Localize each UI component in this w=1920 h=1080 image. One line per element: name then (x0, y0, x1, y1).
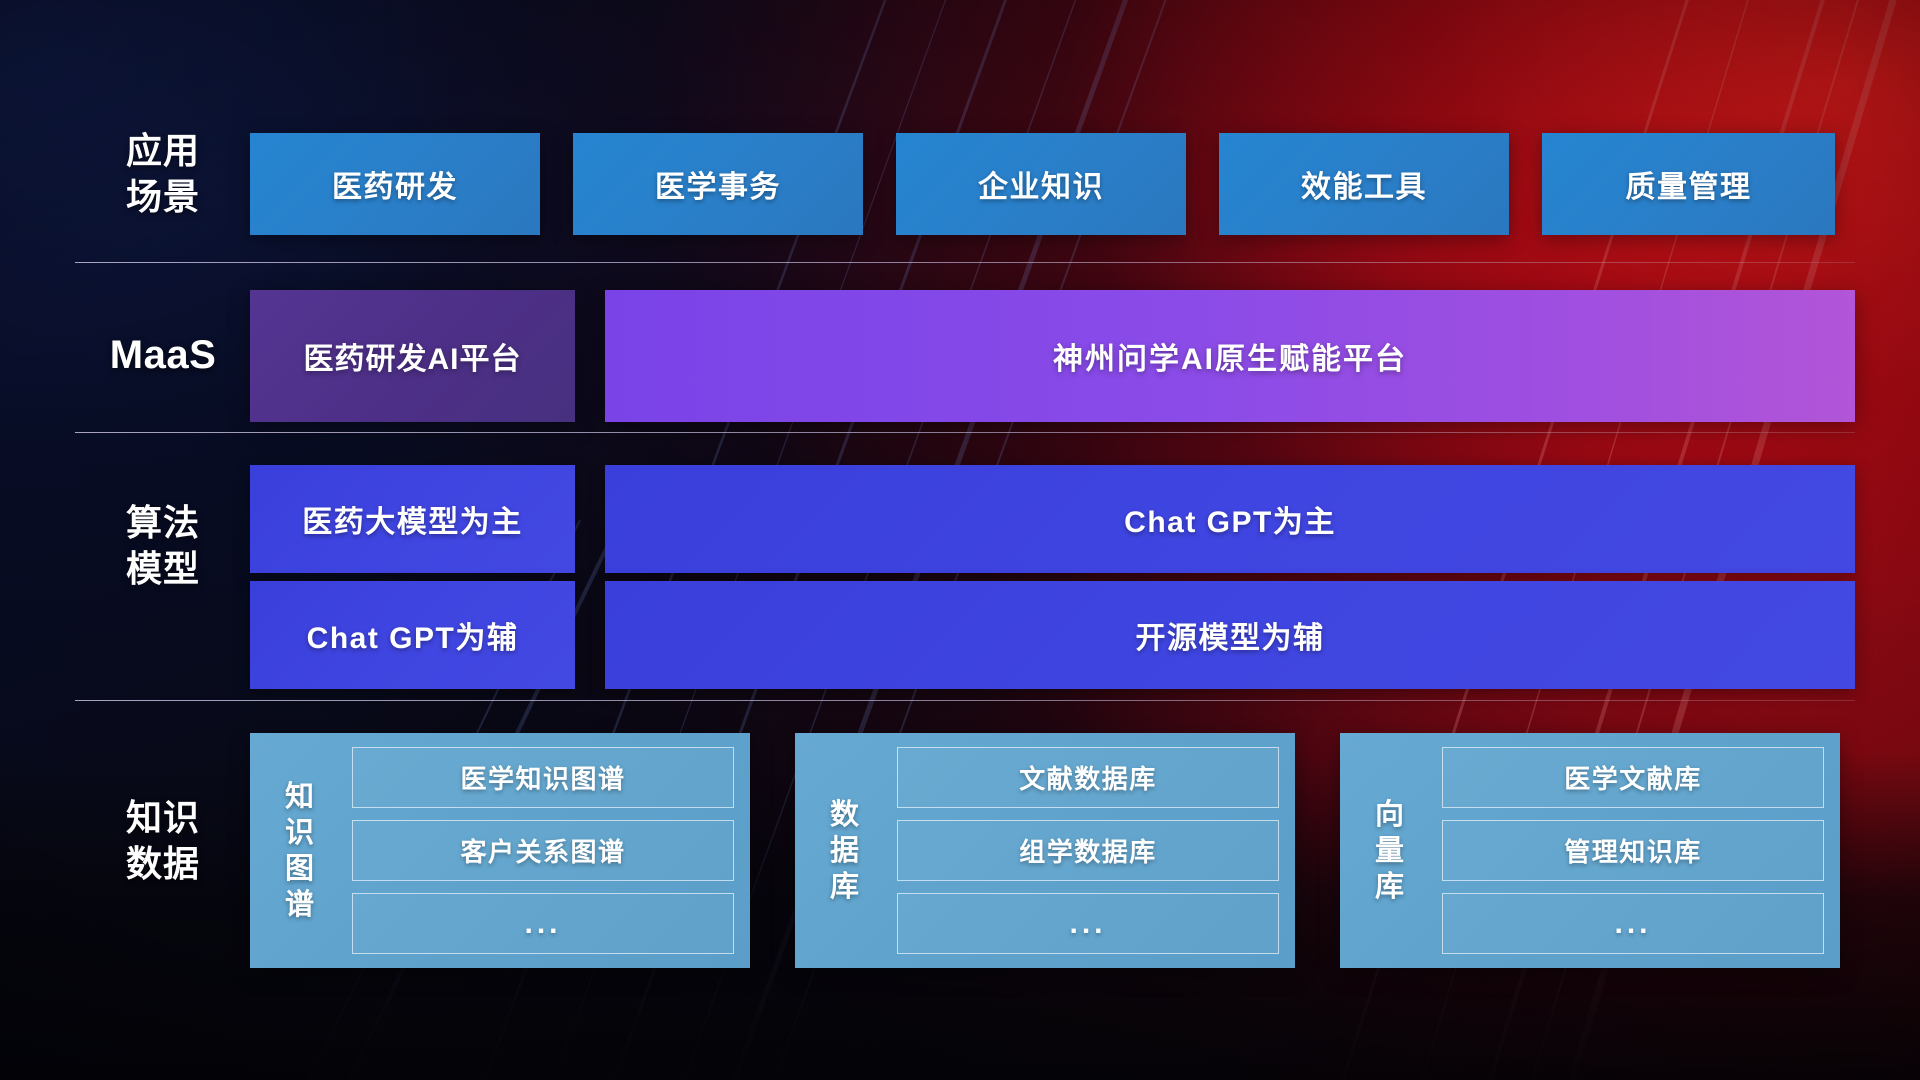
divider-maas-algorithm (75, 432, 1855, 433)
algo-box-row2-right[interactable]: 开源模型为辅 (605, 581, 1855, 689)
divider-application-maas (75, 262, 1855, 263)
algo-box-row1-right-label: Chat GPT为主 (1124, 497, 1336, 541)
knowledge-card-1-item-3[interactable]: ... (352, 893, 734, 954)
app-box-2[interactable]: 医学事务 (573, 133, 863, 235)
knowledge-card-1-vertical-label: 知识图谱 (264, 747, 336, 954)
knowledge-card-1-items: 医学知识图谱 客户关系图谱 ... (336, 747, 734, 954)
maas-left-box-label: 医药研发AI平台 (304, 334, 522, 378)
maas-left-box[interactable]: 医药研发AI平台 (250, 290, 575, 422)
knowledge-card-3-item-1[interactable]: 医学文献库 (1442, 747, 1824, 808)
algo-box-row2-left-label: Chat GPT为辅 (307, 613, 519, 657)
knowledge-card-2[interactable]: 数据库 文献数据库 组学数据库 ... (795, 733, 1295, 968)
knowledge-card-3[interactable]: 向量库 医学文献库 管理知识库 ... (1340, 733, 1840, 968)
maas-right-box-label: 神州问学AI原生赋能平台 (1053, 334, 1407, 378)
app-box-1-label: 医药研发 (332, 162, 458, 206)
knowledge-card-2-item-3[interactable]: ... (897, 893, 1279, 954)
row-label-application: 应用 场景 (78, 128, 248, 220)
knowledge-card-3-item-3[interactable]: ... (1442, 893, 1824, 954)
app-box-5-label: 质量管理 (1626, 162, 1752, 206)
algo-box-row1-right[interactable]: Chat GPT为主 (605, 465, 1855, 573)
architecture-diagram: 应用 场景 医药研发 医学事务 企业知识 效能工具 质量管理 MaaS 医药研发… (0, 0, 1920, 1080)
app-box-4[interactable]: 效能工具 (1219, 133, 1509, 235)
app-box-4-label: 效能工具 (1301, 162, 1427, 206)
knowledge-card-2-items: 文献数据库 组学数据库 ... (881, 747, 1279, 954)
knowledge-card-1[interactable]: 知识图谱 医学知识图谱 客户关系图谱 ... (250, 733, 750, 968)
knowledge-card-1-item-2[interactable]: 客户关系图谱 (352, 820, 734, 881)
row-label-algorithm: 算法 模型 (78, 500, 248, 592)
app-box-3[interactable]: 企业知识 (896, 133, 1186, 235)
row-label-knowledge: 知识 数据 (78, 795, 248, 887)
algo-box-row2-right-label: 开源模型为辅 (1136, 613, 1325, 657)
algo-box-row1-left[interactable]: 医药大模型为主 (250, 465, 575, 573)
maas-right-box[interactable]: 神州问学AI原生赋能平台 (605, 290, 1855, 422)
divider-algorithm-knowledge (75, 700, 1855, 701)
knowledge-card-3-items: 医学文献库 管理知识库 ... (1426, 747, 1824, 954)
app-box-2-label: 医学事务 (655, 162, 781, 206)
knowledge-card-2-item-2[interactable]: 组学数据库 (897, 820, 1279, 881)
algo-box-row1-left-label: 医药大模型为主 (302, 497, 523, 541)
algo-box-row2-left[interactable]: Chat GPT为辅 (250, 581, 575, 689)
knowledge-card-3-vertical-label: 向量库 (1354, 747, 1426, 954)
app-box-1[interactable]: 医药研发 (250, 133, 540, 235)
knowledge-card-1-item-1[interactable]: 医学知识图谱 (352, 747, 734, 808)
app-box-3-label: 企业知识 (978, 162, 1104, 206)
knowledge-card-2-item-1[interactable]: 文献数据库 (897, 747, 1279, 808)
knowledge-card-2-vertical-label: 数据库 (809, 747, 881, 954)
row-label-maas: MaaS (78, 332, 248, 378)
app-box-5[interactable]: 质量管理 (1542, 133, 1835, 235)
knowledge-card-3-item-2[interactable]: 管理知识库 (1442, 820, 1824, 881)
